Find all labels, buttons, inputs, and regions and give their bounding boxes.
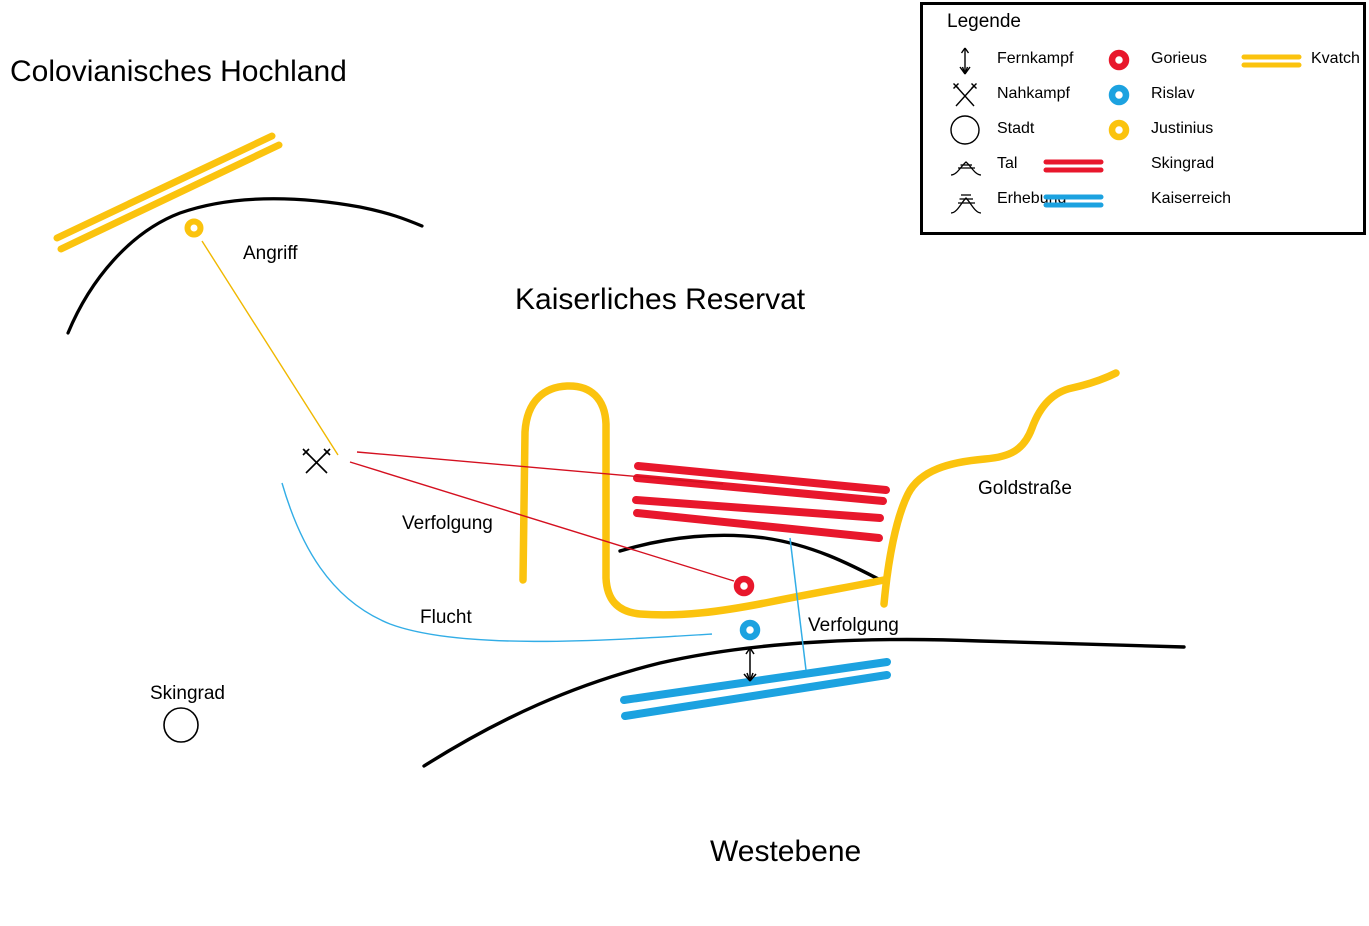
ring-icon	[1103, 78, 1145, 113]
movement-verfolgung-line-right	[790, 538, 806, 670]
ring-icon	[1103, 43, 1145, 78]
legend-kaiserreich[interactable]: Kaiserreich	[1043, 183, 1253, 218]
verfolgung-label-left: Verfolgung	[402, 513, 493, 535]
hill-icon	[949, 183, 991, 218]
city-skingrad[interactable]	[164, 708, 198, 742]
legend-rislav[interactable]: Rislav	[1103, 78, 1253, 113]
legend-kvatch-label: Kvatch	[1311, 50, 1360, 68]
legend-column-factions: Gorieus Rislav Justinius	[1103, 43, 1253, 218]
army-kaiserreich-arrows	[624, 662, 887, 716]
legend-kaiserreich-label: Kaiserreich	[1151, 190, 1231, 208]
legend-gorieus-label: Gorieus	[1151, 50, 1207, 68]
marker-gorieus[interactable]	[737, 579, 751, 593]
legend-rislav-label: Rislav	[1151, 85, 1195, 103]
region-title-colovianisches-hochland: Colovianisches Hochland	[10, 55, 347, 89]
region-title-westebene: Westebene	[710, 835, 861, 869]
nahkampf-icon	[303, 449, 330, 473]
verfolgung-label-right: Verfolgung	[808, 615, 899, 637]
legend-stadt-label: Stadt	[997, 120, 1034, 138]
legend-tal-label: Tal	[997, 155, 1017, 173]
legend-panel: Legende	[920, 2, 1366, 235]
legend-stadt[interactable]: Stadt	[949, 113, 1099, 148]
legend-fernkampf[interactable]: Fernkampf	[949, 43, 1099, 78]
double-line-icon	[1043, 148, 1105, 183]
skingrad-city-label: Skingrad	[150, 683, 225, 705]
circle-outline-icon	[949, 113, 991, 148]
crossed-swords-icon	[949, 78, 991, 113]
legend-justinius-label: Justinius	[1151, 120, 1213, 138]
road-kvatch-loop	[523, 386, 884, 615]
movement-angriff-line	[202, 241, 338, 455]
legend-nahkampf[interactable]: Nahkampf	[949, 78, 1099, 113]
legend-skingrad[interactable]: Skingrad	[1043, 148, 1253, 183]
fernkampf-icon	[744, 648, 756, 681]
legend-skingrad-label: Skingrad	[1151, 155, 1214, 173]
valley-icon	[949, 148, 991, 183]
road-kvatch-northwest	[57, 136, 279, 249]
ring-icon	[1103, 113, 1145, 148]
legend-kvatch[interactable]: Kvatch	[1241, 43, 1369, 78]
marker-justinius[interactable]	[188, 222, 201, 235]
marker-rislav[interactable]	[743, 623, 757, 637]
legend-title: Legende	[947, 11, 1021, 33]
legend-gorieus[interactable]: Gorieus	[1103, 43, 1253, 78]
double-line-icon	[1241, 43, 1303, 78]
legend-column-roads: Kvatch	[1241, 43, 1369, 78]
angriff-label: Angriff	[243, 243, 298, 265]
arrow-up-icon	[949, 43, 991, 78]
double-line-icon	[1043, 183, 1105, 218]
legend-justinius[interactable]: Justinius	[1103, 113, 1253, 148]
legend-nahkampf-label: Nahkampf	[997, 85, 1070, 103]
region-title-kaiserliches-reservat: Kaiserliches Reservat	[515, 283, 805, 317]
goldstrasse-road-label: Goldstraße	[978, 478, 1072, 500]
legend-fernkampf-label: Fernkampf	[997, 50, 1073, 68]
army-skingrad-arrows	[636, 466, 886, 538]
battle-map: Colovianisches Hochland Kaiserliches Res…	[0, 0, 1369, 926]
flucht-label: Flucht	[420, 607, 472, 629]
